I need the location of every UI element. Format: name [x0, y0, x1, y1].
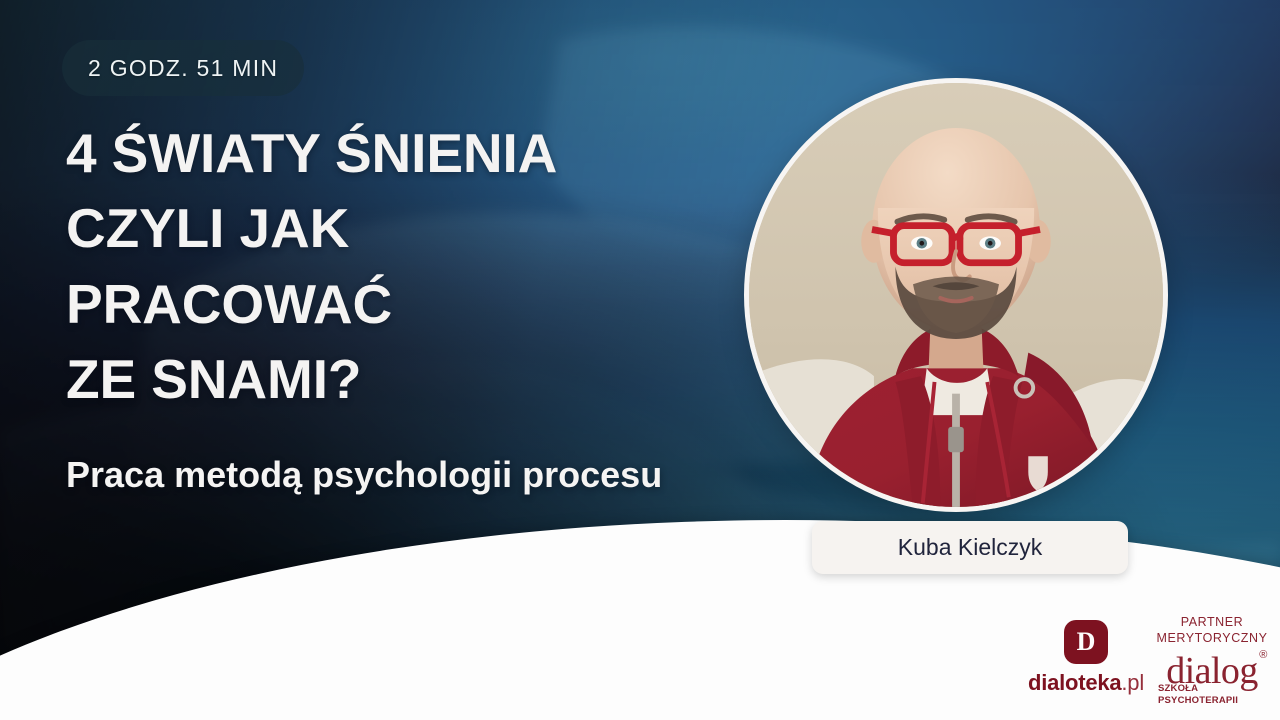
title-line-3: PRACOWAĆ	[66, 267, 766, 342]
dialoteka-tld: .pl	[1121, 670, 1144, 695]
partner-label-line-2: MERYTORYCZNY	[1157, 630, 1268, 646]
partner-logo[interactable]: PARTNER MERYTORYCZNY dialog® SZKOŁA PSYC…	[1152, 614, 1272, 707]
duration-badge: 2 GODZ. 51 MIN	[62, 40, 304, 96]
partner-label: PARTNER MERYTORYCZNY	[1157, 614, 1268, 646]
speaker-portrait	[744, 78, 1168, 512]
course-promo-card: 2 GODZ. 51 MIN 4 ŚWIATY ŚNIENIA CZYLI JA…	[0, 0, 1280, 720]
page-title: 4 ŚWIATY ŚNIENIA CZYLI JAK PRACOWAĆ ZE S…	[66, 116, 766, 417]
dialog-name: dialog	[1166, 650, 1258, 692]
dialoteka-d-letter: D	[1077, 629, 1096, 655]
dialoteka-logo[interactable]: D dialoteka.pl	[1020, 620, 1152, 696]
title-line-2: CZYLI JAK	[66, 191, 766, 266]
title-line-1: 4 ŚWIATY ŚNIENIA	[66, 116, 766, 191]
duration-badge-label: 2 GODZ. 51 MIN	[88, 55, 278, 82]
title-line-4: ZE SNAMI?	[66, 342, 766, 417]
registered-trademark-icon: ®	[1259, 650, 1267, 661]
speaker-name-badge: Kuba Kielczyk	[812, 521, 1128, 574]
dialoteka-d-icon: D	[1064, 620, 1108, 664]
dialog-wordmark: dialog®	[1166, 652, 1258, 690]
page-subtitle: Praca metodą psychologii procesu	[66, 446, 726, 504]
partner-label-line-1: PARTNER	[1157, 614, 1268, 630]
dialog-sub-line-2: PSYCHOTERAPII	[1158, 695, 1238, 707]
dialoteka-name: dialoteka	[1028, 670, 1121, 695]
dialoteka-wordmark: dialoteka.pl	[1028, 670, 1144, 696]
speaker-name: Kuba Kielczyk	[898, 534, 1042, 561]
